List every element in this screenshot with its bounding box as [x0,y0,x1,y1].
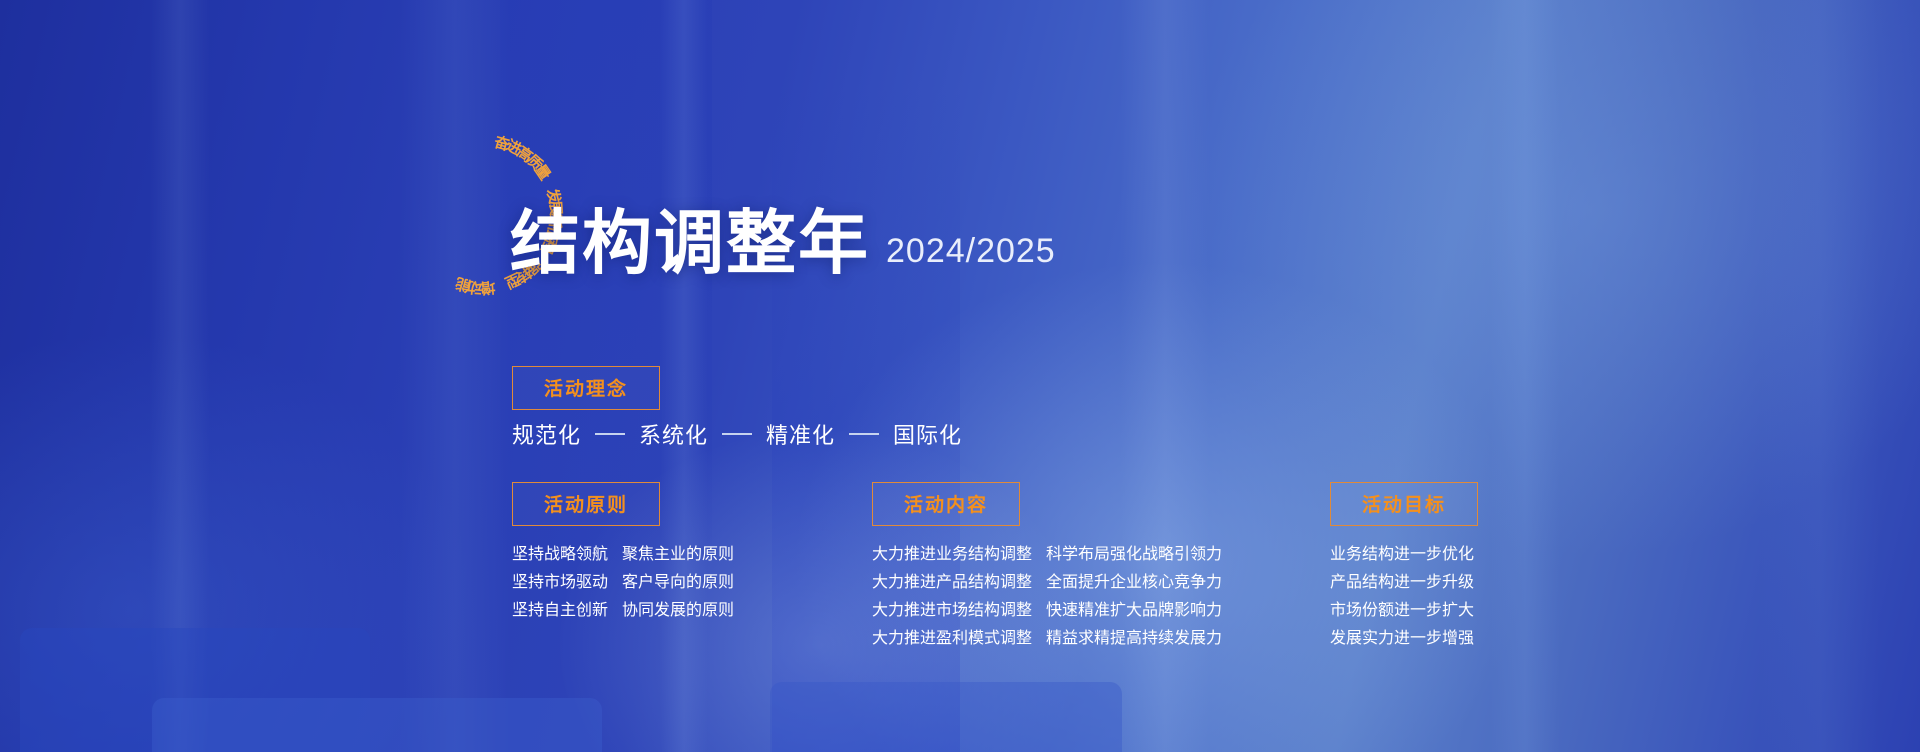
list-item: 大力推进产品结构调整全面提升企业核心竞争力 [872,574,1222,590]
list-item: 大力推进市场结构调整快速精准扩大品牌影响力 [872,602,1222,618]
list-item: 大力推进盈利模式调整精益求精提高持续发展力 [872,630,1222,646]
list-item-secondary: 全面提升企业核心竞争力 [1046,574,1222,590]
bg-light-band-6 [1760,0,1880,752]
bg-rect-block-1 [20,628,370,752]
list-item-primary: 大力推进市场结构调整 [872,602,1032,618]
list-item-secondary: 快速精准扩大品牌影响力 [1046,602,1222,618]
list-item: 市场份额进一步扩大 [1330,602,1478,618]
year-range-label: 2024/2025 [886,232,1056,278]
list-item-secondary: 客户导向的原则 [622,574,734,590]
concept-item: 精准化 [766,418,835,450]
column-goals: 活动目标 业务结构进一步优化产品结构进一步升级市场份额进一步扩大发展实力进一步增… [1330,482,1478,658]
list-item: 坚持市场驱动客户导向的原则 [512,574,734,590]
bg-glow-right [1180,0,1920,560]
banner-poster: 奋进高质量 发展新征程 强转型 增动能 结构调整年 2024/2025 活动理念… [0,0,1920,752]
concept-items-line: 规范化系统化精准化国际化 [512,418,962,450]
list-item-primary: 大力推进盈利模式调整 [872,630,1032,646]
concept-badge-wrap: 活动理念 [512,366,660,410]
list-item-secondary: 科学布局强化战略引领力 [1046,546,1222,562]
bg-light-band-1 [150,0,210,752]
list-item: 坚持自主创新协同发展的原则 [512,602,734,618]
column-list-contents: 大力推进业务结构调整科学布局强化战略引领力大力推进产品结构调整全面提升企业核心竞… [872,546,1222,646]
column-badge-principles: 活动原则 [512,482,660,526]
list-item-primary: 坚持自主创新 [512,602,608,618]
concept-separator-dash [595,433,625,435]
concept-item: 规范化 [512,418,581,450]
list-item: 大力推进业务结构调整科学布局强化战略引领力 [872,546,1222,562]
list-item: 产品结构进一步升级 [1330,574,1478,590]
list-item-primary: 大力推进业务结构调整 [872,546,1032,562]
list-item-secondary: 精益求精提高持续发展力 [1046,630,1222,646]
column-list-goals: 业务结构进一步优化产品结构进一步升级市场份额进一步扩大发展实力进一步增强 [1330,546,1478,646]
column-contents: 活动内容 大力推进业务结构调整科学布局强化战略引领力大力推进产品结构调整全面提升… [872,482,1222,658]
page-title: 结构调整年 [510,208,870,278]
list-item-primary: 坚持战略领航 [512,546,608,562]
list-item: 坚持战略领航聚焦主业的原则 [512,546,734,562]
column-badge-goals: 活动目标 [1330,482,1478,526]
column-badge-contents: 活动内容 [872,482,1020,526]
bg-glow-left [0,330,480,752]
concept-badge: 活动理念 [512,366,660,410]
bg-light-band-5 [1490,0,1560,752]
list-item: 业务结构进一步优化 [1330,546,1478,562]
title-row: 结构调整年 2024/2025 [510,208,1056,278]
list-item-primary: 坚持市场驱动 [512,574,608,590]
list-item: 发展实力进一步增强 [1330,630,1478,646]
list-item-secondary: 聚焦主业的原则 [622,546,734,562]
column-principles: 活动原则 坚持战略领航聚焦主业的原则坚持市场驱动客户导向的原则坚持自主创新协同发… [512,482,734,630]
bg-light-band-2 [400,0,510,752]
column-list-principles: 坚持战略领航聚焦主业的原则坚持市场驱动客户导向的原则坚持自主创新协同发展的原则 [512,546,734,618]
concept-separator-dash [722,433,752,435]
concept-separator-dash [849,433,879,435]
concept-item: 系统化 [639,418,708,450]
bg-rect-block-2 [152,698,602,752]
list-item-secondary: 协同发展的原则 [622,602,734,618]
concept-item: 国际化 [893,418,962,450]
list-item-primary: 大力推进产品结构调整 [872,574,1032,590]
